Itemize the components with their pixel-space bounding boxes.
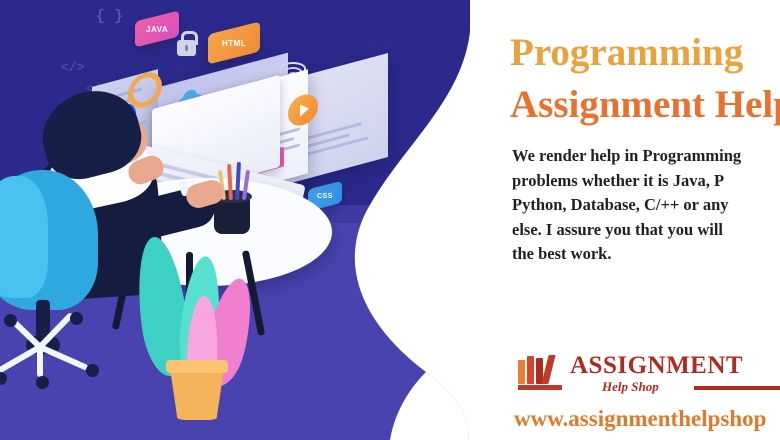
plant-pot [170,368,224,420]
badge-html-label: HTML [222,39,246,48]
badge-java-label: JAVA [146,25,168,34]
body-line: problems whether it is Java, P [512,169,780,194]
chair-caster [70,312,83,325]
logo-rule [694,386,780,390]
body-line: else. I assure you that you will [512,218,780,243]
brand-logo[interactable]: ASSIGNMENT Help Shop [518,352,780,398]
chair-caster [86,364,99,377]
code-glyph-tag-1: </> [61,60,84,75]
chair-caster [4,314,17,327]
promo-banner: { } </> </> { } [ ] N JAVA HTML CSS [0,0,780,440]
badge-html: HTML [208,22,260,65]
logo-name: ASSIGNMENT [570,352,743,380]
badge-java: JAVA [135,11,179,48]
chair-spoke [37,347,43,377]
body-line: the best work. [512,242,780,267]
office-chair-cushion [0,176,48,298]
headline-line-2: Assignment Help [510,80,780,130]
body-line: We render help in Programming [512,144,780,169]
logo-tagline: Help Shop [602,379,659,395]
body-line: Python, Database, C/++ or any [512,193,780,218]
copy-panel: Programming Assignment Help We render he… [470,0,780,440]
headline-line-1: Programming [510,28,780,78]
badge-css-label: CSS [317,193,333,200]
chair-caster [36,376,49,389]
books-icon [518,356,562,390]
website-url[interactable]: www.assignmenthelpshop [514,406,766,432]
plant-pot-rim [166,360,228,373]
body-paragraph: We render help in Programming problems w… [512,144,780,267]
illustration-panel: { } </> </> { } [ ] N JAVA HTML CSS [0,0,470,440]
code-glyph-brace-1: { } [96,8,123,25]
